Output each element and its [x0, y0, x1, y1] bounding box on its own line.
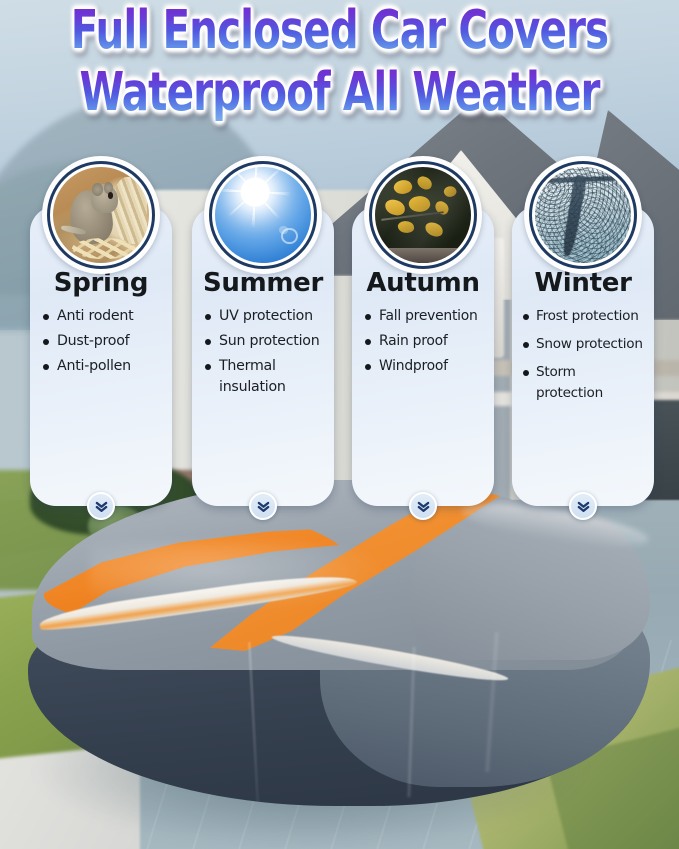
- list-item: Thermal insulation: [204, 356, 326, 398]
- double-chevron-down-icon[interactable]: [569, 492, 597, 520]
- car-hood-edge: [375, 248, 471, 263]
- cover-highlight: [90, 542, 390, 612]
- straw-nest: [113, 177, 148, 244]
- frost-on-windshield-photo: [535, 167, 631, 263]
- image-ring: [209, 161, 317, 269]
- list-item: UV protection: [204, 306, 326, 327]
- image-ring: [529, 161, 637, 269]
- list-item: Dust-proof: [42, 331, 164, 352]
- winter-image-frame: [524, 156, 642, 274]
- sun-disc: [241, 178, 270, 207]
- spring-image-frame: [42, 156, 160, 274]
- double-chevron-down-icon[interactable]: [87, 492, 115, 520]
- double-chevron-down-icon[interactable]: [409, 492, 437, 520]
- list-item: Frost protection: [522, 306, 646, 327]
- rodent-in-nest-photo: [53, 167, 149, 263]
- rodent-eye: [108, 192, 114, 199]
- list-item: Anti rodent: [42, 306, 164, 327]
- list-item: Rain proof: [364, 331, 486, 352]
- season-feature-cards: Spring Anti rodent Dust-proof Anti-polle…: [0, 148, 679, 468]
- fallen-leaves-on-windshield-photo: [375, 167, 471, 263]
- list-item: Anti-pollen: [42, 356, 164, 377]
- season-card-spring[interactable]: Spring Anti rodent Dust-proof Anti-polle…: [30, 206, 172, 506]
- list-item: Fall prevention: [364, 306, 486, 327]
- image-ring: [47, 161, 155, 269]
- season-card-winter[interactable]: Winter Frost protection Snow protection …: [512, 206, 654, 506]
- seeds: [72, 238, 135, 259]
- season-card-autumn[interactable]: Autumn Fall prevention Rain proof Windpr…: [352, 206, 494, 506]
- car-cover-product-image: [20, 472, 660, 817]
- summer-image-frame: [204, 156, 322, 274]
- double-chevron-down-icon[interactable]: [249, 492, 277, 520]
- image-ring: [369, 161, 477, 269]
- autumn-image-frame: [364, 156, 482, 274]
- lens-flare-dot: [279, 226, 288, 235]
- list-item: Sun protection: [204, 331, 326, 352]
- headline-block: Full Enclosed Car Covers Waterproof All …: [0, 6, 679, 118]
- list-item: Snow protection: [522, 334, 646, 355]
- season-card-summer[interactable]: Summer UV protection Sun protection Ther…: [192, 206, 334, 506]
- summer-feature-list: UV protection Sun protection Thermal ins…: [198, 306, 328, 398]
- list-item: Storm protection: [522, 362, 646, 404]
- sun-in-blue-sky-photo: [215, 167, 311, 263]
- spring-feature-list: Anti rodent Dust-proof Anti-pollen: [36, 306, 166, 377]
- headline-line-2: Waterproof All Weather: [27, 63, 652, 124]
- headline-line-1: Full Enclosed Car Covers: [27, 1, 652, 62]
- ice-crystals: [535, 167, 631, 263]
- list-item: Windproof: [364, 356, 486, 377]
- winter-feature-list: Frost protection Snow protection Storm p…: [518, 306, 648, 404]
- rodent-ear: [92, 183, 103, 195]
- autumn-feature-list: Fall prevention Rain proof Windproof: [358, 306, 488, 377]
